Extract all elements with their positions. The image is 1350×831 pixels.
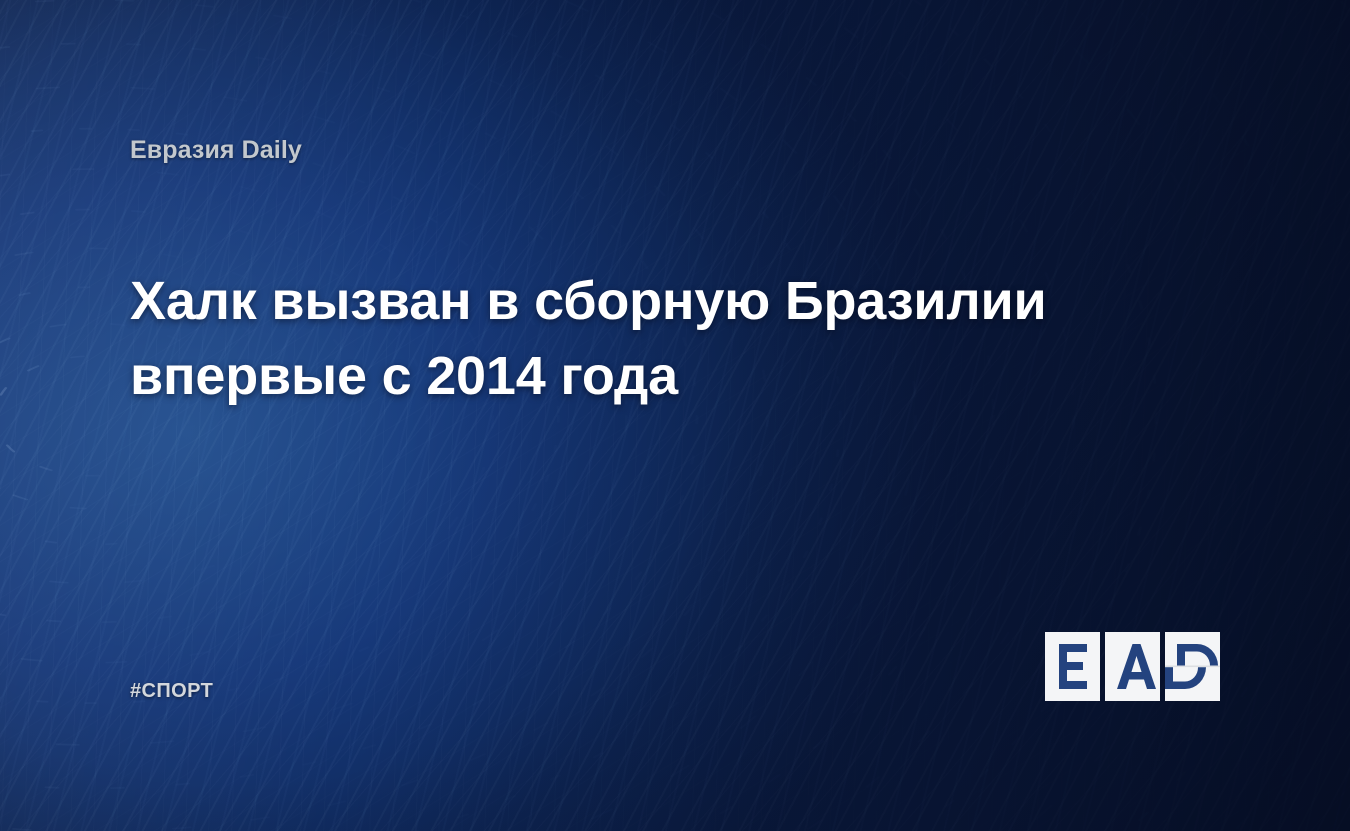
category-tag-sport[interactable]: #СПОРТ	[130, 680, 213, 703]
brand-name: Евразия Daily	[130, 136, 302, 165]
card-content: Евразия Daily Халк вызван в сборную Браз…	[0, 0, 1350, 831]
ead-logo[interactable]	[1045, 632, 1220, 701]
page-title: Халк вызван в сборную Бразилии впервые с…	[130, 264, 1090, 414]
news-share-card: Евразия Daily Халк вызван в сборную Браз…	[0, 0, 1350, 831]
